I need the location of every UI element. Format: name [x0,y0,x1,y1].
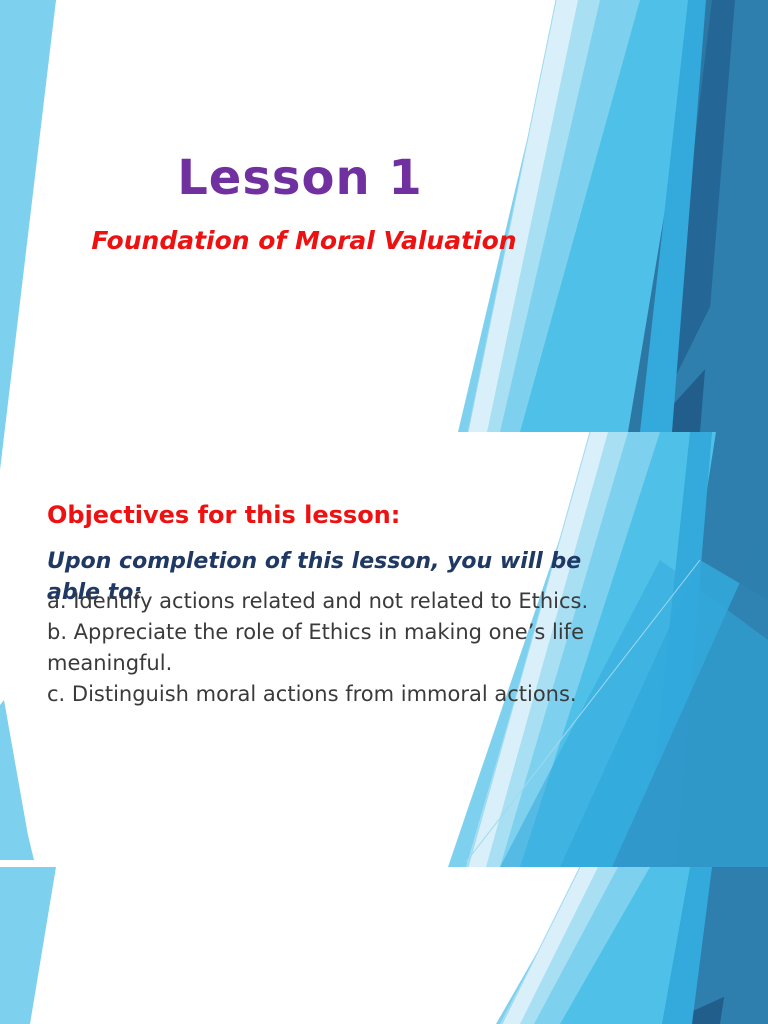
s2-pale-triangle [502,867,598,1024]
s2-hairline [502,867,580,1024]
slide-2-title: Ethics [0,1020,660,1024]
left-bottom-wedge [0,700,32,858]
sky-triangle-a [458,0,640,432]
slide-1-decorative-graphic [0,0,768,867]
s2-steel-panel [624,867,768,1024]
left-wedge-shape [0,0,57,867]
objective-item: b. Appreciate the role of Ethics in maki… [47,617,592,679]
objectives-heading: Objectives for this lesson: [47,501,400,529]
s2-dark-panel [650,867,768,1024]
medium-sliver-a [640,0,706,432]
s2-medium-sliver [662,867,712,1024]
left-top-wedge [0,0,56,250]
page-subtitle: Foundation of Moral Valuation [0,226,608,255]
hairline-a [468,0,556,432]
s2-left-wedge [0,867,56,1024]
s2-steel-strip [720,867,768,1024]
steel-shard-b [612,520,768,867]
page-title: Lesson 1 [0,153,600,203]
slide-2-decorative-graphic [0,867,768,1024]
light-triangle-a [470,0,600,432]
dark-panel-b [622,432,768,867]
steel-panel-a [610,0,768,432]
dark-panel-a [640,0,768,432]
pale-triangle-a [468,0,578,432]
slide-lesson-1: Lesson 1 Foundation of Moral Valuation O… [0,0,768,867]
right-upper-cluster [458,0,768,432]
slide-deck: Lesson 1 Foundation of Moral Valuation O… [0,0,768,1024]
left-wedge-top-shape [0,0,57,300]
s2-sky-triangle [496,867,650,1024]
cyan-triangle-a [505,0,712,432]
steel-panel-b [600,432,768,867]
objective-item: a. Identify actions related and not rela… [47,586,592,617]
objective-item: c. Distinguish moral actions from immora… [47,679,592,710]
slide-ethics: Ethics [0,867,768,1024]
objectives-list: a. Identify actions related and not rela… [47,586,592,709]
s2-light-triangle [500,867,618,1024]
dark-overlay-a [628,0,768,432]
medium-sliver-b [644,432,712,867]
steel-strip-a [700,0,768,432]
s2-cyan-triangle [540,867,712,1024]
steel-strip-b [712,432,768,867]
left-bottom-wedge-b [0,720,34,860]
left-column-reset [0,0,60,867]
